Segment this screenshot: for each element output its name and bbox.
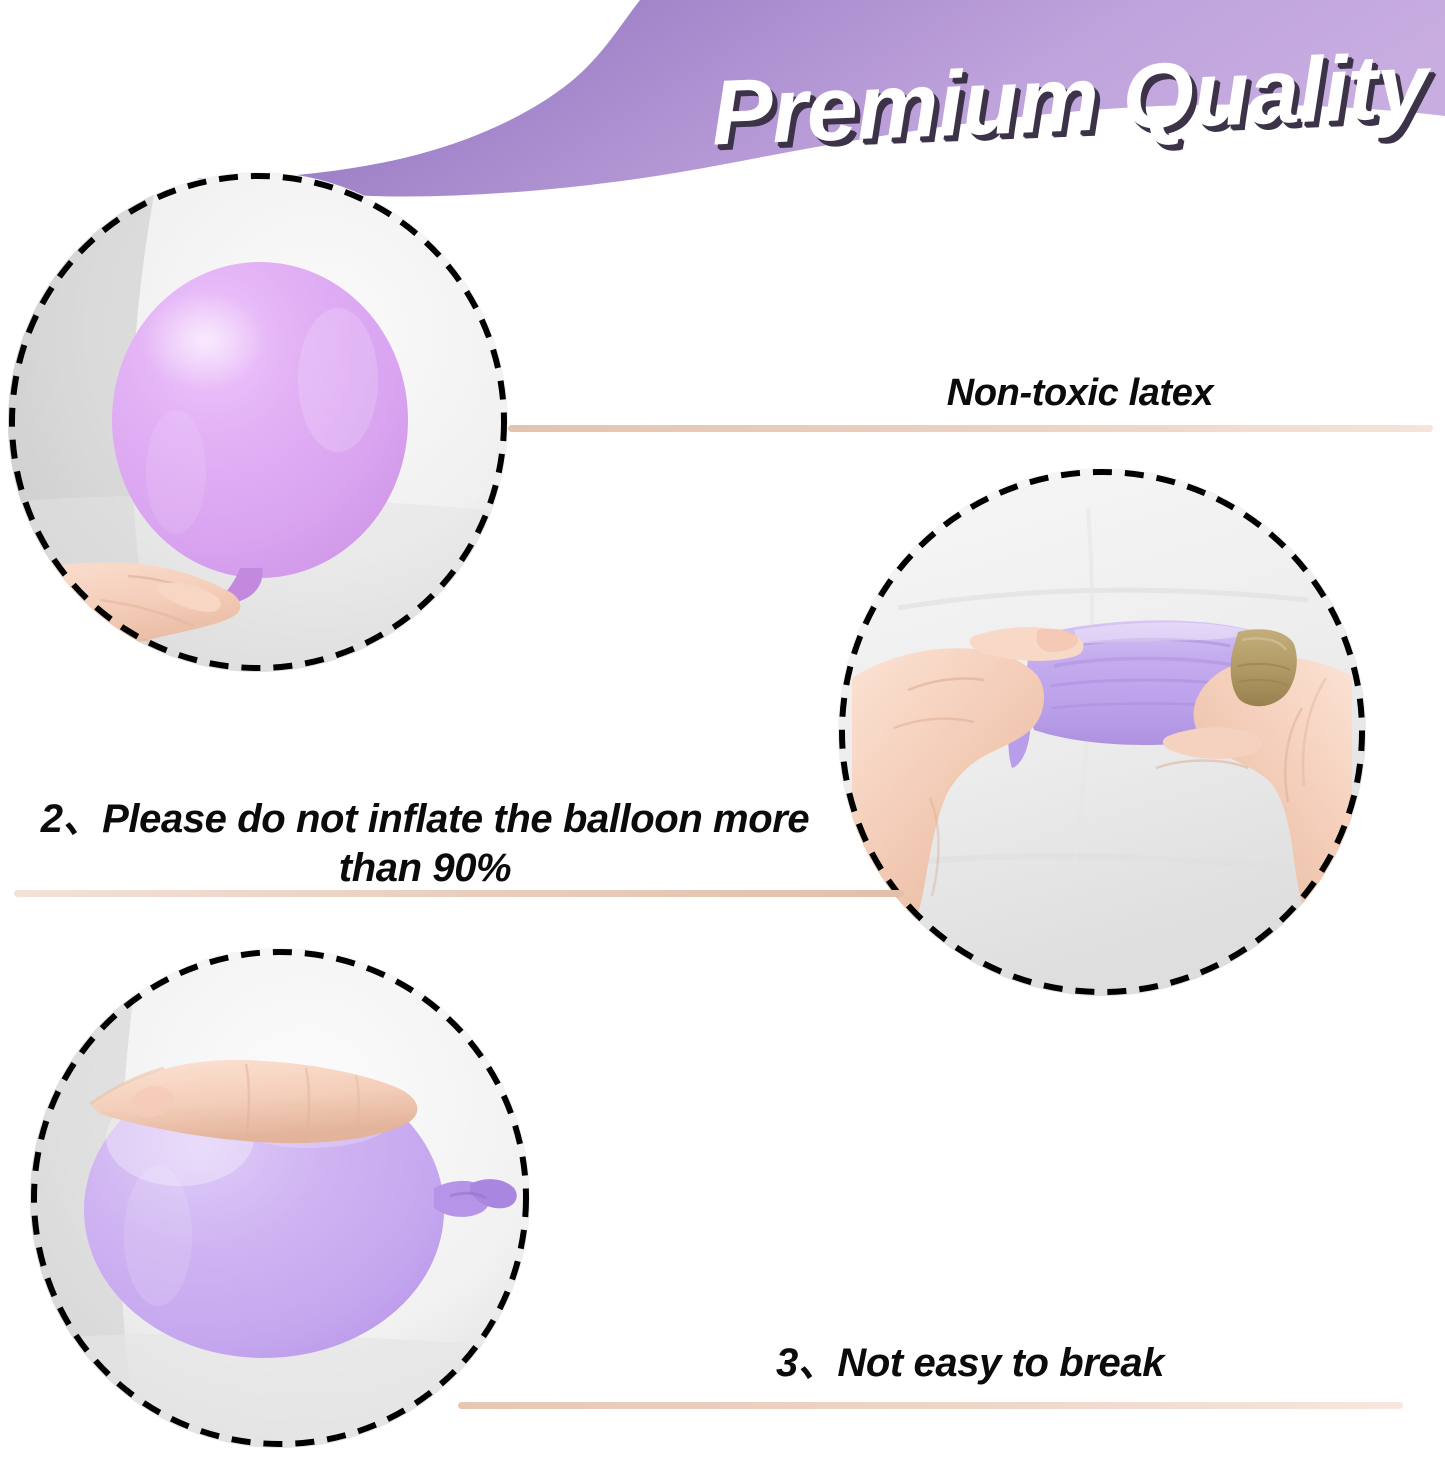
product-infographic: Premium Quality — [0, 0, 1445, 1474]
photo-hands-stretching-balloon — [838, 468, 1366, 996]
feature-caption-non-toxic-latex: Non-toxic latex — [760, 372, 1400, 415]
feature-photo-inflate-limit — [838, 468, 1366, 996]
connector-line-not-easy-to-break — [458, 1402, 1403, 1409]
feature-caption-not-easy-to-break: 3、Not easy to break — [640, 1330, 1300, 1388]
page-title: Premium Quality — [709, 34, 1429, 166]
feature-photo-not-easy-to-break — [30, 948, 530, 1448]
feature-photo-non-toxic-latex — [8, 172, 508, 672]
photo-hand-pressing-balloon — [30, 948, 530, 1448]
header-banner: Premium Quality — [0, 0, 1445, 200]
connector-line-non-toxic-latex — [508, 425, 1433, 432]
photo-hand-holding-balloon — [8, 172, 508, 672]
feature-caption-inflate-limit: 2、Please do not inflate the balloon more… — [0, 795, 850, 893]
